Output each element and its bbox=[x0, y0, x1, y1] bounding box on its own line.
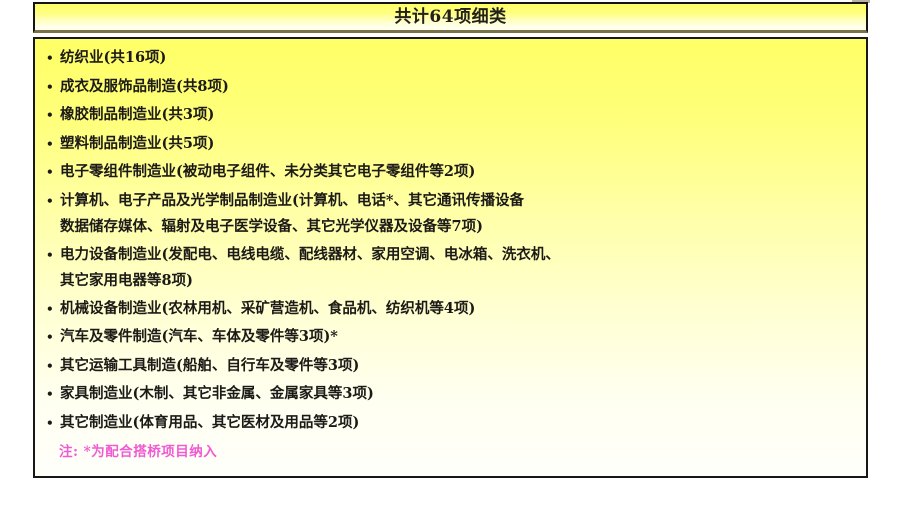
list-item: 电力设备制造业(发配电、电线电缆、配线器材、家用空调、电冰箱、洗衣机、 其它家用… bbox=[46, 242, 626, 294]
list-item: 其它运输工具制造(船舶、自行车及零件等3项) bbox=[46, 353, 626, 380]
list-item: 塑料制品制造业(共5项) bbox=[46, 131, 626, 158]
list-item: 家具制造业(木制、其它非金属、金属家具等3项) bbox=[46, 381, 626, 408]
content-panel: 纺织业(共16项) 成衣及服饰品制造(共8项) 橡胶制品制造业(共3项) 塑料制… bbox=[33, 37, 868, 478]
list-item: 汽车及零件制造(汽车、车体及零件等3项)* bbox=[46, 324, 626, 351]
slide-canvas: 共计64项细类 纺织业(共16项) 成衣及服饰品制造(共8项) 橡胶制品制造业(… bbox=[0, 0, 900, 511]
industry-category-list: 纺织业(共16项) 成衣及服饰品制造(共8项) 橡胶制品制造业(共3项) 塑料制… bbox=[46, 45, 626, 436]
list-item: 橡胶制品制造业(共3项) bbox=[46, 102, 626, 129]
footnote: 注: *为配合搭桥项目纳入 bbox=[59, 446, 217, 460]
content-text-frame: 纺织业(共16项) 成衣及服饰品制造(共8项) 橡胶制品制造业(共3项) 塑料制… bbox=[46, 45, 626, 470]
list-item: 其它制造业(体育用品、其它医材及用品等2项) bbox=[46, 410, 626, 437]
list-item: 纺织业(共16项) bbox=[46, 45, 626, 72]
list-item: 计算机、电子产品及光学制品制造业(计算机、电话*、其它通讯传播设备 数据储存媒体… bbox=[46, 188, 626, 240]
page-title: 共计64项细类 bbox=[394, 9, 506, 26]
list-item: 电子零组件制造业(被动电子组件、未分类其它电子零组件等2项) bbox=[46, 159, 626, 186]
list-item: 机械设备制造业(农林用机、采矿营造机、食品机、纺织机等4项) bbox=[46, 296, 626, 323]
title-bar: 共计64项细类 bbox=[33, 2, 868, 33]
list-item: 成衣及服饰品制造(共8项) bbox=[46, 74, 626, 101]
